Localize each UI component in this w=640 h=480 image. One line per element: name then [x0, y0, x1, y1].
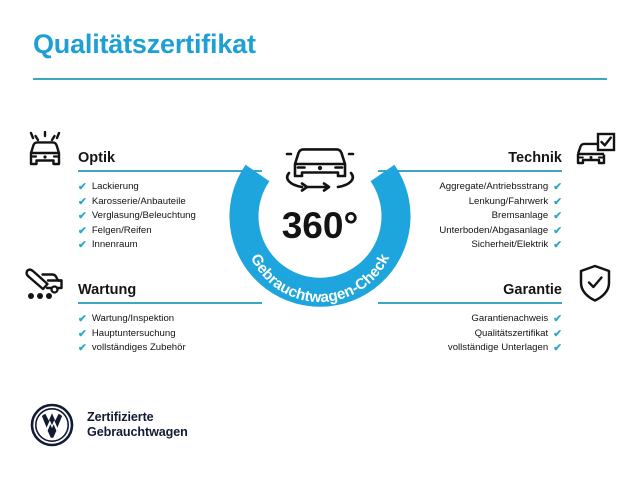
shield-check-icon: [572, 262, 618, 304]
brand-text: Zertifizierte Gebrauchtwagen: [87, 410, 188, 441]
brand-line-2: Gebrauchtwagen: [87, 425, 188, 441]
checklist-wartung: ✔Wartung/Inspektion ✔Hauptuntersuchung ✔…: [22, 312, 262, 356]
header: Qualitätszertifikat: [33, 30, 607, 80]
list-item-label: Karosserie/Anbauteile: [92, 195, 186, 210]
section-header: Wartung: [22, 262, 262, 304]
section-optik: Optik ✔Lackierung ✔Karosserie/Anbauteile…: [22, 130, 262, 253]
list-item-label: Sicherheit/Elektrik: [471, 238, 548, 253]
section-header: Optik: [22, 130, 262, 172]
car-checkbox-icon: [572, 130, 618, 172]
list-item: ✔Hauptuntersuchung: [78, 327, 262, 342]
check-icon: ✔: [553, 314, 562, 325]
list-item-label: Qualitätszertifikat: [475, 327, 549, 342]
wrench-car-icon: [22, 262, 68, 304]
check-icon: ✔: [78, 197, 87, 208]
footer-brand: Zertifizierte Gebrauchtwagen: [30, 403, 188, 447]
list-item-label: vollständiges Zubehör: [92, 341, 186, 356]
check-icon: ✔: [553, 240, 562, 251]
check-icon: ✔: [78, 329, 87, 340]
list-item-label: Lenkung/Fahrwerk: [469, 195, 548, 210]
list-item-label: Wartung/Inspektion: [92, 312, 174, 327]
check-icon: ✔: [553, 226, 562, 237]
checklist-garantie: Garantienachweis✔ Qualitätszertifikat✔ v…: [378, 312, 618, 356]
volkswagen-logo: [30, 403, 74, 447]
list-item: ✔vollständiges Zubehör: [78, 341, 262, 356]
check-icon: ✔: [553, 343, 562, 354]
list-item-label: Felgen/Reifen: [92, 224, 152, 239]
brand-line-1: Zertifizierte: [87, 410, 188, 426]
list-item-label: Bremsanlage: [492, 209, 549, 224]
list-item-label: Garantienachweis: [471, 312, 548, 327]
list-item-label: Lackierung: [92, 180, 139, 195]
list-item: vollständige Unterlagen✔: [378, 341, 562, 356]
check-icon: ✔: [553, 329, 562, 340]
list-item-label: Unterboden/Abgasanlage: [439, 224, 548, 239]
check-icon: ✔: [78, 226, 87, 237]
checklist-optik: ✔Lackierung ✔Karosserie/Anbauteile ✔Verg…: [22, 180, 262, 253]
list-item-label: Hauptuntersuchung: [92, 327, 176, 342]
check-icon: ✔: [78, 240, 87, 251]
list-item-label: Verglasung/Beleuchtung: [92, 209, 196, 224]
section-garantie: Garantie Garantienachweis✔ Qualitätszert…: [378, 262, 618, 356]
check-icon: ✔: [78, 182, 87, 193]
header-divider: [33, 78, 607, 80]
section-header: Garantie: [378, 262, 618, 304]
certificate-page: Qualitätszertifikat: [0, 0, 640, 480]
section-wartung: Wartung ✔Wartung/Inspektion ✔Hauptunters…: [22, 262, 262, 356]
section-header: Technik: [378, 130, 618, 172]
list-item-label: vollständige Unterlagen: [448, 341, 548, 356]
check-icon: ✔: [553, 211, 562, 222]
check-icon: ✔: [78, 211, 87, 222]
list-item: ✔Wartung/Inspektion: [78, 312, 262, 327]
checklist-technik: Aggregate/Antriebsstrang✔ Lenkung/Fahrwe…: [378, 180, 618, 253]
list-item: Garantienachweis✔: [378, 312, 562, 327]
badge-360-check: 360° Gebrauchtwagen-Check: [227, 113, 413, 313]
section-technik: Technik Aggregate/An: [378, 130, 618, 253]
list-item-label: Innenraum: [92, 238, 138, 253]
list-item: Qualitätszertifikat✔: [378, 327, 562, 342]
badge-center-label: 360°: [282, 205, 359, 246]
check-icon: ✔: [553, 182, 562, 193]
list-item-label: Aggregate/Antriebsstrang: [439, 180, 548, 195]
check-icon: ✔: [78, 314, 87, 325]
check-icon: ✔: [553, 197, 562, 208]
page-title: Qualitätszertifikat: [33, 30, 607, 60]
car-shine-icon: [22, 130, 68, 172]
check-icon: ✔: [78, 343, 87, 354]
